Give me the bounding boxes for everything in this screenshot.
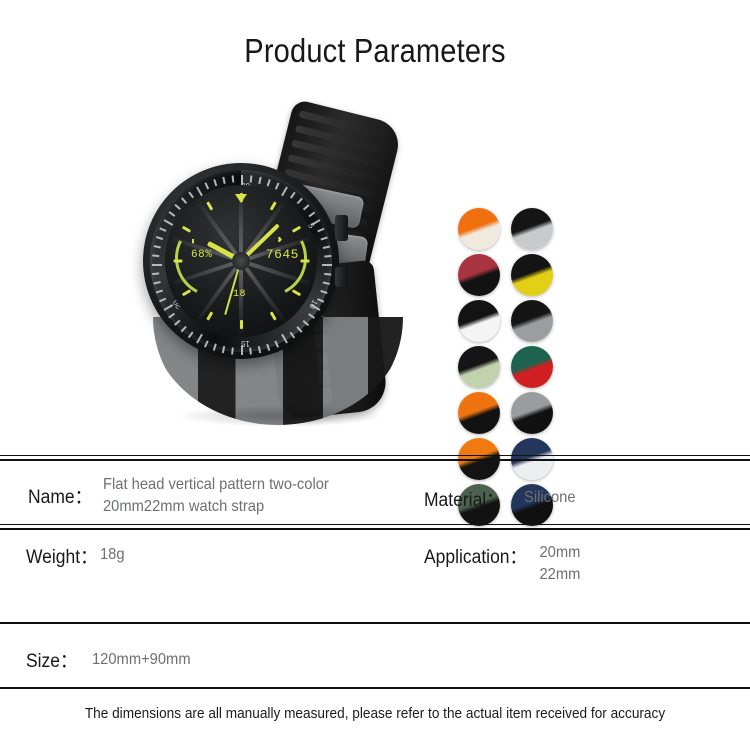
swatch-black-yellow[interactable] bbox=[511, 254, 553, 296]
row-size-label: Size： bbox=[26, 646, 77, 673]
row-material-label: Material： bbox=[424, 485, 504, 512]
watch-dial: ▮ 68% ❥ 7645 18 bbox=[165, 185, 317, 337]
table-divider bbox=[0, 459, 750, 461]
swatch-black-gray[interactable] bbox=[511, 300, 553, 342]
bezel-tick bbox=[232, 347, 234, 354]
product-image-area: 51015202530 ▮ 68% ❥ 7645 18 bbox=[0, 95, 750, 445]
drop-shadow bbox=[175, 405, 385, 427]
bezel-tick bbox=[154, 246, 161, 249]
date-value: 18 bbox=[233, 289, 246, 300]
bezel-tick bbox=[303, 320, 309, 326]
bezel-tick bbox=[297, 198, 303, 204]
bezel-tick bbox=[174, 204, 180, 210]
bezel-tick bbox=[324, 255, 331, 257]
swatch-two-tone-fill bbox=[511, 208, 553, 250]
dial-hour-marker bbox=[240, 320, 243, 329]
swatch-two-tone-fill bbox=[511, 300, 553, 342]
bezel-tick bbox=[281, 187, 288, 197]
swatch-two-tone-fill bbox=[458, 346, 500, 388]
swatch-two-tone-fill bbox=[511, 254, 553, 296]
bezel-tick bbox=[290, 332, 295, 339]
row-weight-value: 18g bbox=[100, 544, 125, 566]
bezel-tick bbox=[267, 179, 271, 186]
row-material-value: Silicone bbox=[524, 487, 576, 509]
table-divider bbox=[0, 687, 750, 689]
bezel-tick bbox=[168, 211, 175, 216]
dial-hour-marker bbox=[181, 289, 190, 296]
bezel-tick bbox=[159, 228, 166, 232]
bezel-tick bbox=[322, 264, 332, 266]
dial-hour-marker bbox=[300, 260, 309, 263]
swatch-orange-white[interactable] bbox=[458, 208, 500, 250]
product-parameters-page: Product Parameters 51015202530 bbox=[0, 0, 750, 750]
bezel-tick bbox=[164, 304, 174, 311]
swatch-black-sage[interactable] bbox=[458, 346, 500, 388]
battery-value: 68% bbox=[191, 249, 212, 261]
bezel-tick bbox=[152, 273, 159, 275]
bezel-tick bbox=[181, 326, 187, 332]
bezel-tick bbox=[152, 264, 162, 266]
bezel-tick bbox=[250, 347, 252, 354]
bezel-tick bbox=[281, 334, 288, 344]
swatch-two-tone-fill bbox=[458, 300, 500, 342]
bezel-tick bbox=[196, 334, 203, 344]
row-application-value: 20mm 22mm bbox=[527, 542, 580, 585]
bezel-tick bbox=[297, 326, 303, 332]
dial-hour-marker bbox=[291, 289, 300, 296]
bezel-tick bbox=[159, 298, 166, 302]
swatch-two-tone-fill bbox=[511, 392, 553, 434]
swatch-green-red[interactable] bbox=[511, 346, 553, 388]
bezel-tick bbox=[308, 211, 315, 216]
swatch-two-tone-fill bbox=[511, 346, 553, 388]
swatch-two-tone-fill bbox=[458, 208, 500, 250]
bezel-tick bbox=[267, 344, 271, 351]
table-divider bbox=[0, 528, 750, 530]
watch-button bbox=[335, 267, 348, 287]
bezel-tick bbox=[232, 175, 234, 182]
swatch-orange-black[interactable] bbox=[458, 392, 500, 434]
bezel-tick bbox=[188, 192, 193, 199]
swatch-black-silver[interactable] bbox=[511, 208, 553, 250]
bezel-tick bbox=[323, 246, 330, 249]
bezel-number: 15 bbox=[241, 339, 250, 348]
row-name-value: Flat head vertical pattern two-color 20m… bbox=[103, 474, 388, 517]
dial-hour-marker bbox=[240, 193, 243, 202]
table-divider bbox=[0, 622, 750, 624]
bezel-tick bbox=[213, 344, 217, 351]
battery-icon: ▮ bbox=[191, 237, 196, 246]
watch-crown bbox=[335, 215, 348, 241]
table-divider bbox=[0, 524, 750, 525]
row-application-label: Application： bbox=[424, 542, 527, 569]
bezel-tick bbox=[152, 255, 159, 257]
bezel-tick bbox=[275, 341, 279, 348]
page-title: Product Parameters bbox=[45, 32, 705, 70]
bezel-tick bbox=[275, 182, 279, 189]
swatch-gray-black[interactable] bbox=[511, 392, 553, 434]
row-name-label: Name： bbox=[28, 482, 92, 509]
bezel-tick bbox=[258, 177, 261, 184]
dial-hub bbox=[232, 252, 250, 270]
bezel-tick bbox=[154, 282, 161, 285]
bezel-tick bbox=[174, 320, 180, 326]
bezel-tick bbox=[204, 341, 208, 348]
swatch-crimson-black[interactable] bbox=[458, 254, 500, 296]
row-weight-label: Weight： bbox=[26, 542, 98, 569]
bezel-tick bbox=[290, 192, 295, 199]
bezel-tick bbox=[317, 228, 324, 232]
bezel-tick bbox=[222, 177, 225, 184]
dial-hour-marker bbox=[206, 311, 213, 320]
color-swatch-grid[interactable] bbox=[458, 208, 561, 528]
swatch-two-tone-fill bbox=[458, 254, 500, 296]
bezel-tick bbox=[320, 290, 327, 294]
bezel-tick bbox=[156, 290, 163, 294]
swatch-black-white[interactable] bbox=[458, 300, 500, 342]
bezel-tick bbox=[222, 346, 225, 353]
bezel-tick bbox=[168, 313, 175, 318]
dial-hour-marker bbox=[173, 260, 182, 263]
bezel-tick bbox=[308, 313, 315, 318]
bezel-tick bbox=[323, 282, 330, 285]
bezel-tick bbox=[320, 236, 327, 240]
bezel-tick bbox=[324, 273, 331, 275]
swatch-two-tone-fill bbox=[458, 392, 500, 434]
smartwatch-photo: 51015202530 ▮ 68% ❥ 7645 18 bbox=[125, 105, 455, 435]
step-count-value: 7645 bbox=[266, 247, 299, 262]
bezel-tick bbox=[250, 175, 252, 182]
disclaimer-note: The dimensions are all manually measured… bbox=[23, 706, 728, 722]
bezel-tick bbox=[258, 346, 261, 353]
steps-icon: ❥ bbox=[278, 235, 283, 245]
bezel-tick bbox=[156, 236, 163, 240]
bezel-tick bbox=[181, 198, 187, 204]
row-size-value: 120mm+90mm bbox=[92, 649, 191, 671]
bezel-tick bbox=[303, 204, 309, 210]
dial-hour-marker bbox=[206, 201, 213, 210]
bezel-tick bbox=[204, 182, 208, 189]
table-divider bbox=[0, 455, 750, 456]
bezel-tick bbox=[188, 332, 193, 339]
watch-case: 51015202530 ▮ 68% ❥ 7645 18 bbox=[143, 163, 339, 359]
bezel-tick bbox=[213, 179, 217, 186]
